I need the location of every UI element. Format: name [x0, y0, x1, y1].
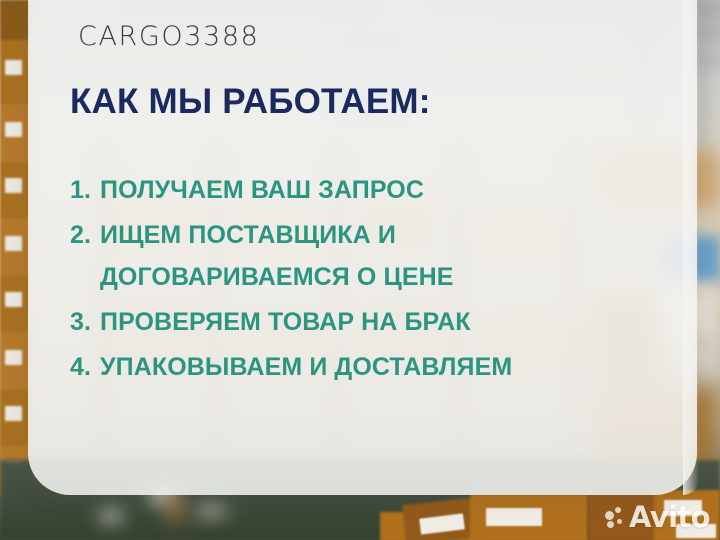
- ceiling-beam: [700, 0, 706, 150]
- list-item: 2. ИЩЕМ ПОСТАВЩИКА И ДОГОВАРИВАЕМСЯ О ЦЕ…: [70, 221, 630, 292]
- avito-dots-icon: [605, 507, 625, 529]
- list-item: 4. УПАКОВЫВАЕМ И ДОСТАВЛЯЕМ: [70, 353, 630, 382]
- step-text: ПРОВЕРЯЕМ ТОВАР НА БРАК: [100, 308, 471, 337]
- floor-debris: [100, 510, 122, 522]
- box-label: [5, 236, 22, 251]
- floor-debris: [168, 494, 182, 522]
- brand-logo: CARGO3388: [78, 21, 259, 52]
- step-number: 4.: [70, 353, 100, 382]
- box-label: [5, 122, 22, 137]
- box-label: [5, 60, 22, 75]
- box-label: [5, 406, 22, 421]
- step-text: ПОЛУЧАЕМ ВАШ ЗАПРОС: [100, 176, 424, 205]
- steps-list: 1. ПОЛУЧАЕМ ВАШ ЗАПРОС 2. ИЩЕМ ПОСТАВЩИК…: [70, 176, 630, 398]
- box-label: [5, 292, 22, 307]
- step-number: 3.: [70, 308, 100, 337]
- floor-debris: [196, 506, 226, 516]
- step-line: ПРОВЕРЯЕМ ТОВАР НА БРАК: [100, 308, 471, 337]
- step-line: ПОЛУЧАЕМ ВАШ ЗАПРОС: [100, 176, 424, 205]
- step-text: УПАКОВЫВАЕМ И ДОСТАВЛЯЕМ: [100, 353, 512, 382]
- step-line: УПАКОВЫВАЕМ И ДОСТАВЛЯЕМ: [100, 353, 512, 382]
- left-box-stack: [0, 0, 30, 540]
- stacked-box: [0, 0, 30, 40]
- step-line: ИЩЕМ ПОСТАВЩИКА И: [100, 221, 454, 250]
- list-item: 1. ПОЛУЧАЕМ ВАШ ЗАПРОС: [70, 176, 630, 205]
- box-label: [5, 178, 22, 193]
- step-number: 2.: [70, 221, 100, 250]
- page-title: КАК МЫ РАБОТАЕМ:: [70, 82, 431, 122]
- box-label: [486, 508, 542, 526]
- box-label: [5, 350, 22, 365]
- avito-wordmark: Avito: [629, 503, 710, 532]
- step-line: ДОГОВАРИВАЕМСЯ О ЦЕНЕ: [100, 263, 454, 292]
- step-text: ИЩЕМ ПОСТАВЩИКА И ДОГОВАРИВАЕМСЯ О ЦЕНЕ: [100, 221, 454, 292]
- step-number: 1.: [70, 176, 100, 205]
- poster-canvas: CARGO3388 КАК МЫ РАБОТАЕМ: 1. ПОЛУЧАЕМ В…: [0, 0, 720, 540]
- avito-watermark: Avito: [605, 503, 710, 532]
- list-item: 3. ПРОВЕРЯЕМ ТОВАР НА БРАК: [70, 308, 630, 337]
